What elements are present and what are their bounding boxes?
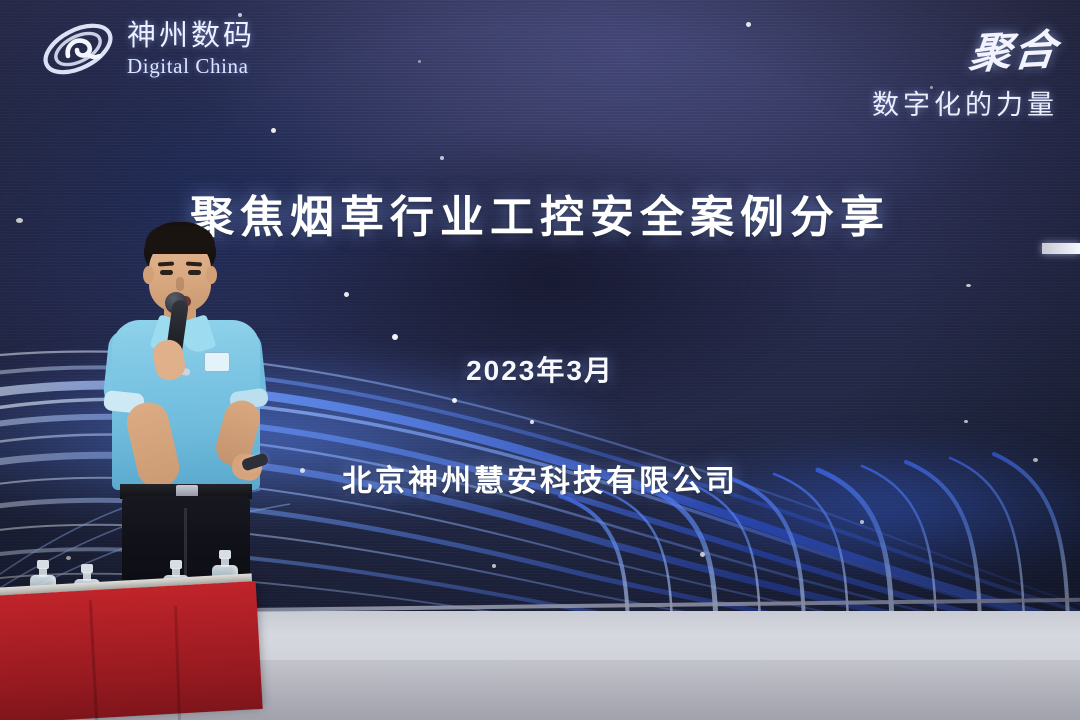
logo-name-cn: 神州数码 <box>127 22 255 51</box>
logo-name-en: Digital China <box>127 56 255 77</box>
speaker-hair-fringe <box>145 226 215 254</box>
speaker-nose <box>176 277 184 291</box>
speaker-ear-right <box>206 266 217 284</box>
digital-china-swirl-icon <box>38 16 118 82</box>
red-table-cloth <box>0 581 263 720</box>
speaker-shirt-chest-logo <box>204 352 230 372</box>
speaker-ear-left <box>143 266 154 284</box>
event-slogan: 聚合 数字化的力量 <box>872 18 1058 122</box>
digital-china-logo: 神州数码 Digital China <box>38 16 255 82</box>
screen-edge-light-bar <box>1042 243 1080 254</box>
speaker-eye-right <box>188 270 201 275</box>
conference-stage-photo: 神州数码 Digital China 聚合 数字化的力量 聚焦烟草行业工控安全案… <box>0 0 1080 720</box>
speaker-eye-left <box>160 270 173 275</box>
slogan-sub-text: 数字化的力量 <box>872 83 1058 122</box>
slogan-brush-text: 聚合 <box>966 16 1061 82</box>
